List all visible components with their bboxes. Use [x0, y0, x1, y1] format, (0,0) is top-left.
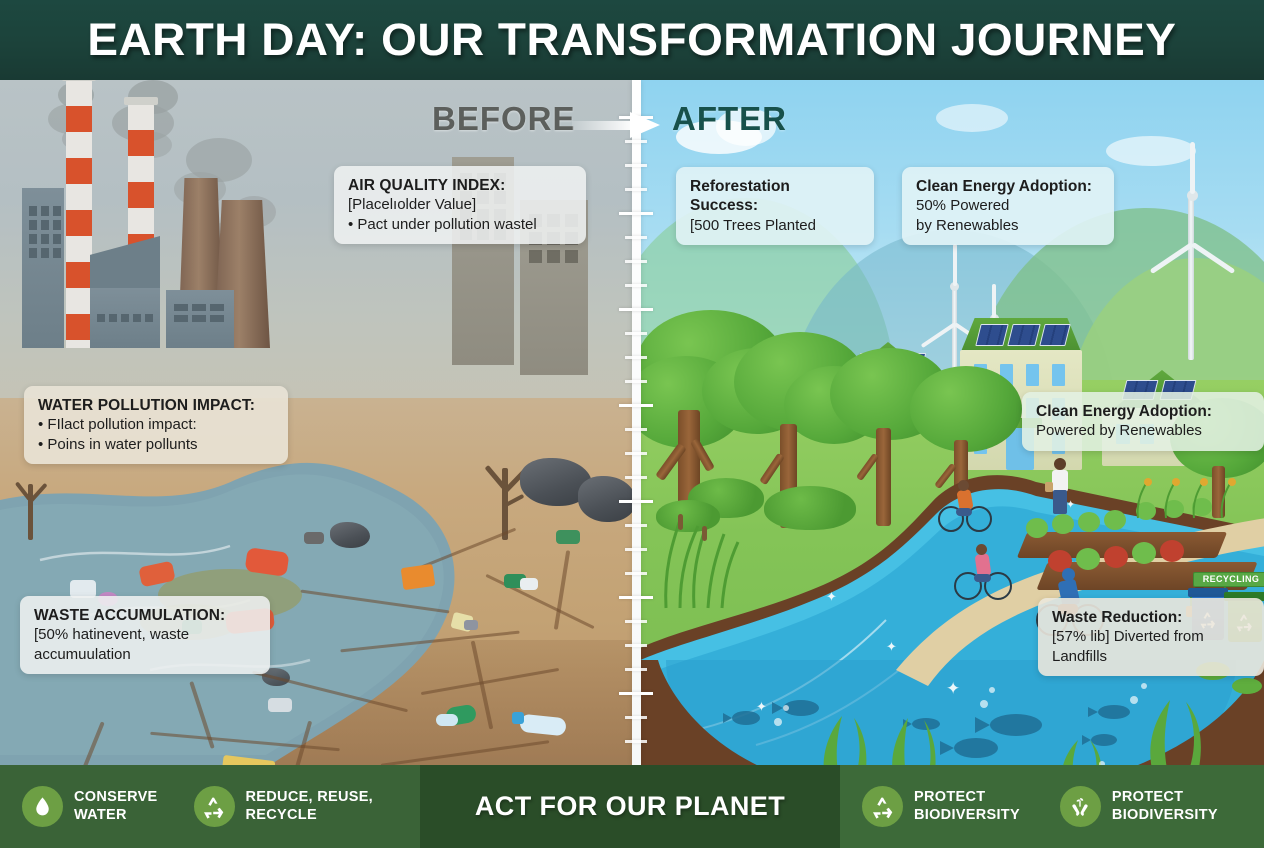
after-label: AFTER: [672, 100, 787, 138]
card-title: Clean Energy Adoption:: [916, 177, 1100, 196]
card-line-2: • Poins in water pollunts: [38, 435, 274, 455]
cyclist-2: [952, 542, 1014, 602]
water-pollution-card: WATER POLLUTION IMPACT: • FIlact polluti…: [24, 386, 288, 464]
footer-bar: CONSERVE WATER REDUCE, REUSE, RECYCLE: [0, 765, 1264, 848]
footer-item-conserve-water[interactable]: CONSERVE WATER: [22, 786, 158, 827]
rock-3: [330, 522, 370, 548]
card-line-1: • FIlact pollution impact:: [38, 415, 274, 435]
cloud-3: [936, 104, 1008, 132]
card-line-1: [57% lib] Diverted from: [1052, 627, 1250, 647]
solar-panel: [1039, 324, 1070, 346]
waste-reduction-card: Waste Reduction: [57% lib] Diverted from…: [1038, 598, 1264, 676]
factory-block: [166, 290, 234, 348]
footer-item-label: PROTECT BIODIVERSITY: [914, 789, 1020, 823]
solar-panel: [1007, 324, 1040, 346]
card-line-1: [50% hatinevent, waste: [34, 625, 256, 645]
label-line-1: PROTECT: [914, 789, 1020, 806]
cyclist-1: [936, 478, 996, 536]
card-line-1: 50% Powered: [916, 196, 1100, 216]
reforestation-card: Reforestation Success: [500 Trees Plante…: [676, 167, 874, 245]
label-line-1: PROTECT: [1112, 789, 1218, 806]
header-bar: EARTH DAY: OUR TRANSFORMATION JOURNEY: [0, 0, 1264, 80]
before-after-divider: [632, 80, 641, 765]
label-line-2: BIODIVERSITY: [1112, 807, 1218, 824]
solar-panel: [975, 324, 1008, 346]
card-line-2: accumuulation: [34, 645, 256, 665]
footer-item-label: PROTECT BIODIVERSITY: [1112, 789, 1218, 823]
transition-arrow-icon: [572, 112, 660, 138]
page-title: EARTH DAY: OUR TRANSFORMATION JOURNEY: [87, 14, 1176, 66]
recycling-sign: RECYCLING: [1193, 572, 1264, 587]
footer-item-reduce-reuse-recycle[interactable]: REDUCE, REUSE, RECYCLE: [194, 786, 373, 827]
label-line-2: BIODIVERSITY: [914, 807, 1020, 824]
hands-plant-icon: [1060, 786, 1101, 827]
card-line-2: by Renewables: [916, 216, 1100, 236]
card-title: Waste Reduction:: [1052, 608, 1250, 627]
footer-item-label: REDUCE, REUSE, RECYCLE: [246, 789, 373, 823]
card-line-2: • Pact under pollution wastel: [348, 215, 572, 235]
label-line-1: REDUCE, REUSE,: [246, 789, 373, 806]
wind-turbine-3: [1156, 160, 1226, 360]
dead-tree-2: [476, 450, 532, 540]
water-sparkle-4: ✦: [756, 700, 767, 713]
waste-accumulation-card: WASTE ACCUMULATION: [50% hatinevent, was…: [20, 596, 270, 674]
footer-right-segment: PROTECT BIODIVERSITY PROTECT BIO: [840, 765, 1264, 848]
card-title: Reforestation Success:: [690, 177, 860, 216]
footer-left-segment: CONSERVE WATER REDUCE, REUSE, RECYCLE: [0, 765, 420, 848]
dead-tree-1: [8, 470, 54, 540]
smokestack-1: [66, 80, 92, 348]
factory-tower: [22, 188, 64, 348]
bin-lid-blue: [1188, 588, 1228, 597]
card-title: AIR QUALITY INDEX:: [348, 176, 572, 195]
water-sparkle-3: ✦: [826, 590, 837, 603]
card-line-1: [Placelıolder Value]: [348, 195, 572, 215]
clean-energy-card-2: Clean Energy Adoption: Powered by Renewa…: [1022, 392, 1264, 451]
card-title: WATER POLLUTION IMPACT:: [38, 396, 274, 415]
footer-item-protect-biodiversity-2[interactable]: PROTECT BIODIVERSITY: [1060, 786, 1218, 827]
air-quality-card: AIR QUALITY INDEX: [Placelıolder Value] …: [334, 166, 586, 244]
card-line-1: Powered by Renewables: [1036, 421, 1250, 441]
footer-item-label: CONSERVE WATER: [74, 789, 158, 823]
factory-hall: [90, 288, 160, 348]
footer-item-protect-biodiversity-1[interactable]: PROTECT BIODIVERSITY: [862, 786, 1020, 827]
recycle-icon: [862, 786, 903, 827]
label-line-2: WATER: [74, 807, 158, 824]
label-line-2: RECYCLE: [246, 807, 373, 824]
pedestrian: [1046, 458, 1074, 514]
card-line-1: [500 Trees Planted: [690, 216, 860, 236]
card-title: Clean Energy Adoption:: [1036, 402, 1250, 421]
recycle-icon: [194, 786, 235, 827]
earth-day-infographic: EARTH DAY: OUR TRANSFORMATION JOURNEY: [0, 0, 1264, 848]
call-to-action: ACT FOR OUR PLANET: [475, 791, 785, 822]
card-title: WASTE ACCUMULATION:: [34, 606, 256, 625]
card-line-2: Landfills: [1052, 647, 1250, 667]
water-drop-icon: [22, 786, 63, 827]
label-line-1: CONSERVE: [74, 789, 158, 806]
clean-energy-card: Clean Energy Adoption: 50% Powered by Re…: [902, 167, 1114, 245]
before-label: BEFORE: [432, 100, 576, 138]
footer-cta-segment: ACT FOR OUR PLANET: [420, 765, 840, 848]
